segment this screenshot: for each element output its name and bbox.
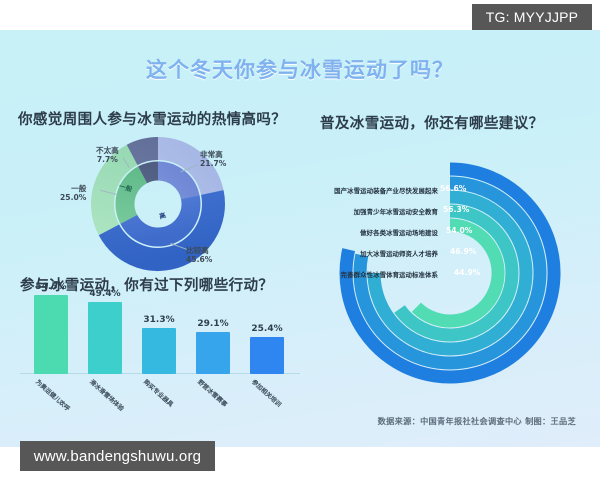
donut-callout-fairly-high-name: 比较高 bbox=[186, 246, 209, 255]
arc-section-title: 普及冰雪运动，你还有哪些建议？ bbox=[320, 112, 544, 133]
radial-value-label: 56.3% bbox=[443, 205, 469, 214]
donut-callout-average-value: 25.0% bbox=[60, 193, 86, 202]
donut-callout-not-high: 不太高 7.7% bbox=[96, 146, 119, 165]
bar-rect bbox=[88, 302, 122, 374]
bar-value-label: 29.1% bbox=[188, 319, 238, 329]
donut-callout-not-high-value: 7.7% bbox=[96, 155, 119, 164]
radial-value-label: 56.6% bbox=[440, 184, 466, 193]
bar-value-label: 49.4% bbox=[80, 289, 130, 299]
radial-category-label: 国产冰雪运动装备产业尽快发展起来 bbox=[334, 186, 438, 195]
donut-callout-average-name: 一般 bbox=[71, 184, 86, 193]
radial-category-label: 完善群众性冰雪体育运动标准体系 bbox=[341, 270, 438, 279]
bar-rect bbox=[34, 295, 68, 374]
page-title: 这个冬天你参与冰雪运动了吗？ bbox=[0, 54, 600, 84]
bar-category-label: 野营冰雪赛事 bbox=[196, 377, 230, 409]
donut-callout-fairly-high: 比较高 45.6% bbox=[186, 246, 212, 265]
bar-rect bbox=[250, 337, 284, 374]
watermark-top: TG: MYYJJPP bbox=[472, 4, 592, 30]
donut-callout-very-high-value: 21.7% bbox=[200, 159, 226, 168]
radial-bar-chart: 国产冰雪运动装备产业尽快发展起来 加强青少年冰雪运动安全教育 做好各类冰雪运动场… bbox=[300, 138, 600, 408]
bar-category-label: 参加相关培训 bbox=[250, 377, 284, 409]
bar-category-label: 滑冰滑雪场体验 bbox=[88, 377, 126, 413]
bar-chart: 54.5% 为奥运健儿欢呼 49.4% 滑冰滑雪场体验 31.3% 购买专业器具… bbox=[16, 296, 308, 428]
donut-chart-svg bbox=[8, 128, 308, 273]
radial-value-label: 46.9% bbox=[450, 247, 476, 256]
donut-callout-very-high: 非常高 21.7% bbox=[200, 150, 226, 169]
watermark-bottom: www.bandengshuwu.org bbox=[20, 441, 215, 471]
donut-callout-average: 一般 25.0% bbox=[60, 184, 86, 203]
radial-category-label: 加强青少年冰雪运动安全教育 bbox=[354, 207, 438, 216]
donut-callout-not-high-name: 不太高 bbox=[96, 146, 119, 155]
donut-chart: 一般 高 非常高 21.7% 比较高 45.6% 一般 25.0% 不太高 7.… bbox=[8, 128, 308, 273]
infographic-canvas: 这个冬天你参与冰雪运动了吗？ 你感觉周围人参与冰雪运动的热情高吗？ bbox=[0, 0, 600, 480]
radial-value-label: 44.9% bbox=[454, 268, 480, 277]
bar-rect bbox=[142, 328, 176, 374]
donut-callout-fairly-high-value: 45.6% bbox=[186, 255, 212, 264]
bar-rect bbox=[196, 332, 230, 374]
poster-card: 这个冬天你参与冰雪运动了吗？ 你感觉周围人参与冰雪运动的热情高吗？ bbox=[0, 30, 600, 447]
radial-category-label: 加大冰雪运动师资人才培养 bbox=[360, 249, 438, 258]
donut-section-title: 你感觉周围人参与冰雪运动的热情高吗？ bbox=[18, 108, 286, 129]
donut-callout-very-high-name: 非常高 bbox=[200, 150, 223, 159]
bar-value-label: 54.5% bbox=[26, 282, 76, 292]
bar-value-label: 31.3% bbox=[134, 315, 184, 325]
bar-value-label: 25.4% bbox=[242, 324, 292, 334]
bar-category-label: 购买专业器具 bbox=[142, 377, 176, 409]
bar-category-label: 为奥运健儿欢呼 bbox=[34, 377, 72, 413]
radial-value-label: 54.0% bbox=[446, 226, 472, 235]
source-credit: 数据来源：中国青年报社社会调查中心 制图：王品芝 bbox=[378, 415, 576, 427]
radial-category-label: 做好各类冰雪运动场地建设 bbox=[360, 228, 438, 237]
